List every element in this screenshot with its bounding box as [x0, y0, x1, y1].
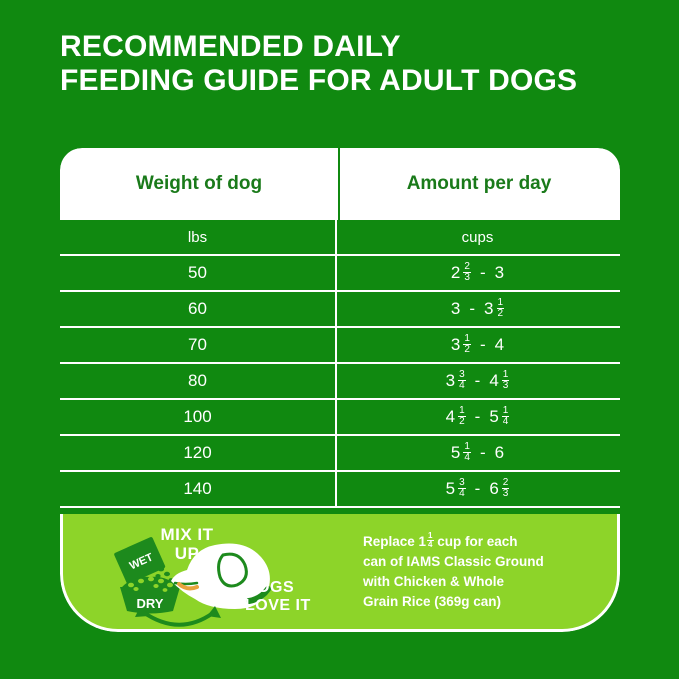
amount-low-whole: 5: [451, 443, 460, 463]
dry-label: DRY: [137, 596, 164, 611]
amount-range-dash: -: [469, 299, 475, 319]
amount-high-whole: 3: [484, 299, 493, 319]
cell-amount: 3 3 4 - 4 1 3: [337, 364, 618, 398]
cell-amount: 2 2 3 - 3: [337, 256, 618, 290]
table-row: 80 3 3 4 - 4 1 3: [60, 364, 620, 400]
cell-weight: 80: [60, 364, 337, 398]
replace-note-line-2: can of IAMS Classic Ground: [363, 552, 617, 572]
amount-low-whole: 3: [451, 299, 460, 319]
page-title-line-1: RECOMMENDED DAILY: [60, 30, 670, 64]
amount-low-fraction: 1 2: [463, 334, 471, 355]
amount-range-dash: -: [475, 407, 481, 427]
cell-amount: 3 1 2 - 4: [337, 328, 618, 362]
dogs-love-it-line-2: LOVE IT: [245, 597, 345, 615]
amount-low-fraction: 3 4: [458, 478, 466, 499]
table-row: 100 4 1 2 - 5 1 4: [60, 400, 620, 436]
table-row: 120 5 1 4 - 6: [60, 436, 620, 472]
amount-low-whole: 4: [446, 407, 455, 427]
curved-arrow-icon: [143, 612, 213, 625]
amount-high-fraction: 1 2: [497, 298, 505, 319]
replace-note-prefix: Replace 1: [363, 534, 426, 549]
table-row: 140 5 3 4 - 6 2 3: [60, 472, 620, 508]
amount-low-fraction: 1 2: [458, 406, 466, 427]
cell-weight: 50: [60, 256, 337, 290]
amount-high-whole: 5: [489, 407, 498, 427]
amount-high-fraction: 1 4: [502, 406, 510, 427]
mix-it-up-line-2: UP: [141, 544, 233, 563]
table-body: lbs cups 50 2 2 3 - 3 60 3: [60, 220, 620, 508]
feeding-guide-table: Weight of dog Amount per day lbs cups 50…: [60, 148, 620, 632]
replace-note-line-3: with Chicken & Whole: [363, 572, 617, 592]
header-column-divider: [338, 148, 340, 220]
amount-high-fraction: 1 3: [502, 370, 510, 391]
dogs-love-it-label: DOGS LOVE IT: [245, 579, 345, 615]
cell-weight: 140: [60, 472, 337, 506]
table-row: 70 3 1 2 - 4: [60, 328, 620, 364]
cell-weight: 120: [60, 436, 337, 470]
table-row: 60 3 - 3 1 2: [60, 292, 620, 328]
mix-it-up-graphic: WET DRY MIX IT UP DOGS LOVE IT: [63, 514, 353, 631]
amount-low-whole: 5: [446, 479, 455, 499]
cell-amount: 3 - 3 1 2: [337, 292, 618, 326]
amount-low-fraction: 1 4: [463, 442, 471, 463]
cell-amount: 4 1 2 - 5 1 4: [337, 400, 618, 434]
amount-high-whole: 4: [489, 371, 498, 391]
amount-range-dash: -: [475, 371, 481, 391]
units-weight: lbs: [60, 220, 337, 254]
mix-it-up-footer: WET DRY MIX IT UP DOGS LOVE IT Replace 1…: [60, 514, 620, 632]
amount-low-whole: 3: [451, 335, 460, 355]
column-header-weight: Weight of dog: [60, 173, 338, 195]
table-header-row: Weight of dog Amount per day: [60, 148, 620, 220]
table-row-units: lbs cups: [60, 220, 620, 256]
amount-range-dash: -: [480, 263, 486, 283]
mix-it-up-line-1: MIX IT: [141, 525, 233, 544]
table-row: 50 2 2 3 - 3: [60, 256, 620, 292]
amount-high-whole: 6: [495, 443, 504, 463]
page-title-line-2: FEEDING GUIDE FOR ADULT DOGS: [60, 64, 670, 98]
amount-low-whole: 3: [446, 371, 455, 391]
cell-weight: 60: [60, 292, 337, 326]
replace-note: Replace 1 1 4 cup for each can of IAMS C…: [353, 532, 617, 612]
replace-note-suffix: cup for each: [434, 534, 518, 549]
amount-low-fraction: 2 3: [463, 262, 471, 283]
amount-range-dash: -: [475, 479, 481, 499]
replace-note-line-4: Grain Rice (369g can): [363, 592, 617, 612]
cell-amount: 5 1 4 - 6: [337, 436, 618, 470]
amount-range-dash: -: [480, 443, 486, 463]
units-amount: cups: [337, 220, 618, 254]
cell-amount: 5 3 4 - 6 2 3: [337, 472, 618, 506]
amount-range-dash: -: [480, 335, 486, 355]
page-title: RECOMMENDED DAILY FEEDING GUIDE FOR ADUL…: [60, 30, 670, 98]
amount-low-fraction: 3 4: [458, 370, 466, 391]
amount-high-whole: 4: [495, 335, 504, 355]
cell-weight: 100: [60, 400, 337, 434]
amount-low-whole: 2: [451, 263, 460, 283]
amount-high-whole: 6: [489, 479, 498, 499]
replace-note-line-1: Replace 1 1 4 cup for each: [363, 532, 617, 552]
amount-high-whole: 3: [495, 263, 504, 283]
mix-it-up-label: MIX IT UP: [141, 525, 233, 563]
column-header-amount: Amount per day: [338, 173, 620, 195]
amount-high-fraction: 2 3: [502, 478, 510, 499]
replace-note-fraction: 1 4: [427, 532, 433, 549]
cell-weight: 70: [60, 328, 337, 362]
dogs-love-it-line-1: DOGS: [245, 579, 345, 597]
